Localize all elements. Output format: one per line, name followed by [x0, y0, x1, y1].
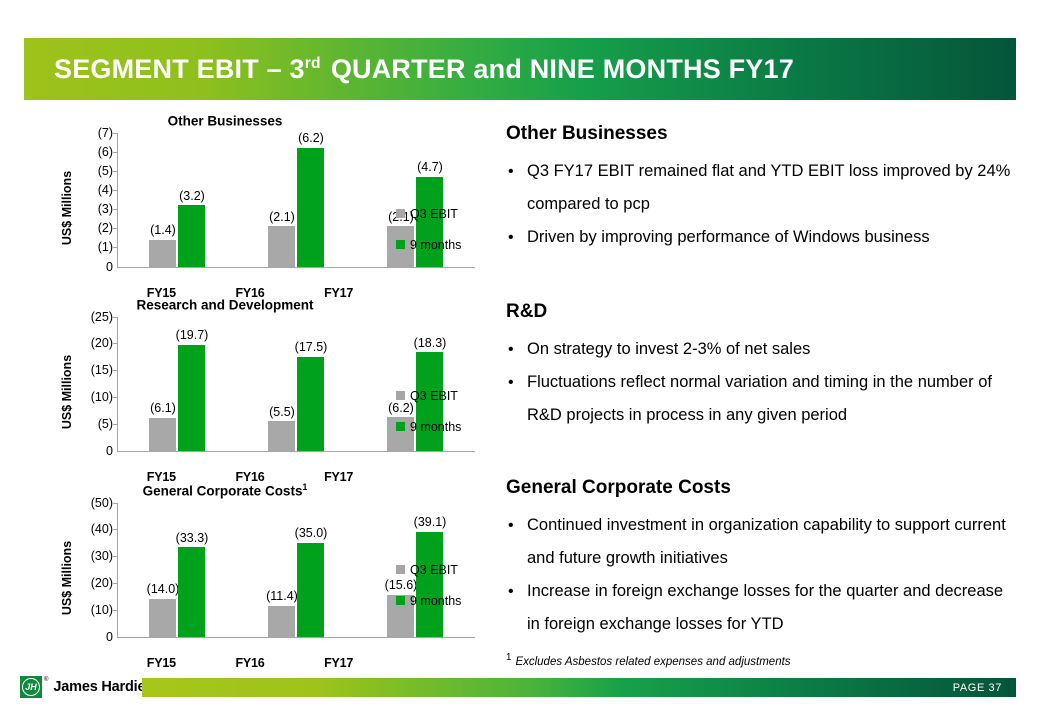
- bar-group: (11.4)(35.0): [238, 503, 356, 637]
- y-tick-mark: [113, 209, 118, 210]
- y-axis-title: US$ Millions: [55, 503, 75, 653]
- bar-value-label: (2.1): [269, 211, 295, 224]
- list-item: Continued investment in organization cap…: [506, 509, 1016, 575]
- footnote: 1Excludes Asbestos related expenses and …: [506, 652, 791, 668]
- commentary-section-general-corporate-costs: General Corporate Costs Continued invest…: [506, 478, 1016, 641]
- bar-value-label: (1.4): [150, 224, 176, 237]
- title-ordinal-suffix: rd: [305, 55, 321, 72]
- chart-title-superscript: 1: [302, 482, 307, 492]
- y-tick-mark: [113, 556, 118, 557]
- y-tick-mark: [113, 503, 118, 504]
- chart-title-text: Other Businesses: [168, 114, 283, 129]
- legend-label: 9 months: [410, 238, 461, 252]
- footnote-text: Excludes Asbestos related expenses and a…: [515, 656, 790, 668]
- y-tick-mark: [113, 133, 118, 134]
- bar-nine-months: (3.2): [178, 205, 205, 266]
- y-tick-label: (7): [98, 126, 113, 139]
- y-axis-title-text: US$ Millions: [60, 346, 74, 438]
- y-tick-mark: [113, 317, 118, 318]
- logo-monogram: JH: [22, 678, 40, 696]
- legend-label: 9 months: [410, 594, 461, 608]
- y-tick-mark: [113, 424, 118, 425]
- legend-swatch-icon: [396, 391, 405, 400]
- x-axis-category-label: FY15: [117, 656, 205, 670]
- chart-legend: Q3 EBIT 9 months: [396, 207, 488, 269]
- legend-swatch-icon: [396, 240, 405, 249]
- bar-nine-months: (33.3): [178, 547, 205, 636]
- chart-plot-area: US$ Millions (50)(40)(30)(20)(10)0 (14.0…: [55, 503, 475, 653]
- bar-q3-ebit: (6.1): [149, 418, 176, 451]
- chart-title: General Corporate Costs1: [55, 482, 475, 499]
- y-tick-label: (4): [98, 184, 113, 197]
- bar-q3-ebit: (11.4): [268, 606, 295, 637]
- chart-legend: Q3 EBIT 9 months: [396, 563, 488, 625]
- legend-swatch-icon: [396, 422, 405, 431]
- y-tick-label: (10): [91, 603, 113, 616]
- chart-other-businesses: Other Businesses US$ Millions (7)(6)(5)(…: [55, 112, 475, 300]
- legend-item-q3: Q3 EBIT: [396, 563, 488, 577]
- section-heading: General Corporate Costs: [506, 478, 1016, 499]
- y-tick-mark: [113, 583, 118, 584]
- x-axis-category-label: FY17: [295, 656, 383, 670]
- bar-group: (1.4)(3.2): [119, 133, 237, 267]
- y-tick-mark: [113, 529, 118, 530]
- y-tick-mark: [113, 370, 118, 371]
- legend-label: Q3 EBIT: [410, 563, 458, 577]
- y-tick-mark: [113, 171, 118, 172]
- slide-title-bar: SEGMENT EBIT – 3rdQUARTER and NINE MONTH…: [24, 38, 1016, 100]
- category-labels: FY15FY16FY17: [117, 656, 383, 670]
- legend-label: Q3 EBIT: [410, 389, 458, 403]
- legend-item-nine-months: 9 months: [396, 594, 488, 608]
- y-tick-label: (50): [91, 496, 113, 509]
- y-tick-label: (6): [98, 145, 113, 158]
- y-tick-label: (3): [98, 203, 113, 216]
- bar-value-label: (6.2): [298, 132, 324, 145]
- y-tick-label: 0: [106, 630, 113, 643]
- title-main: SEGMENT EBIT – 3: [54, 54, 305, 84]
- legend-swatch-icon: [396, 209, 405, 218]
- y-tick-label: (5): [98, 417, 113, 430]
- y-tick-label: (2): [98, 222, 113, 235]
- y-tick-label: (30): [91, 550, 113, 563]
- bar-value-label: (18.3): [414, 337, 447, 350]
- chart-title-text: General Corporate Costs: [143, 484, 303, 499]
- legend-spacer: [383, 656, 475, 670]
- bar-nine-months: (6.2): [297, 148, 324, 267]
- brand-name: James Hardie: [53, 679, 145, 695]
- y-tick-mark: [113, 610, 118, 611]
- y-axis-ticks: (50)(40)(30)(20)(10)0: [75, 503, 117, 637]
- bar-value-label: (4.7): [417, 161, 443, 174]
- bar-value-label: (35.0): [295, 527, 328, 540]
- chart-title: Research and Development: [55, 296, 475, 313]
- footer-gradient-bar: PAGE 37: [142, 678, 1016, 697]
- bullet-list: Continued investment in organization cap…: [506, 509, 1016, 641]
- bar-q3-ebit: (2.1): [268, 226, 295, 266]
- chart-legend: Q3 EBIT 9 months: [396, 389, 488, 451]
- list-item: Driven by improving performance of Windo…: [506, 221, 1016, 254]
- y-tick-label: 0: [106, 260, 113, 273]
- y-tick-mark: [113, 228, 118, 229]
- bar-group: (14.0)(33.3): [119, 503, 237, 637]
- legend-item-nine-months: 9 months: [396, 420, 488, 434]
- list-item: Fluctuations reflect normal variation an…: [506, 366, 1016, 432]
- bar-q3-ebit: (5.5): [268, 421, 295, 450]
- y-tick-label: (5): [98, 165, 113, 178]
- commentary-column: Other Businesses Q3 FY17 EBIT remained f…: [506, 124, 1016, 647]
- y-tick-label: (40): [91, 523, 113, 536]
- james-hardie-logo-icon: JH: [20, 676, 42, 698]
- chart-plot-area: US$ Millions (25)(20)(15)(10)(5)0 (6.1)(…: [55, 317, 475, 467]
- bar-nine-months: (17.5): [297, 357, 324, 451]
- y-tick-mark: [113, 152, 118, 153]
- y-tick-mark: [113, 190, 118, 191]
- y-tick-label: (20): [91, 337, 113, 350]
- y-tick-mark: [113, 247, 118, 248]
- page-number: PAGE 37: [953, 682, 1002, 694]
- bar-group: (2.1)(6.2): [238, 133, 356, 267]
- legend-swatch-icon: [396, 565, 405, 574]
- list-item: On strategy to invest 2-3% of net sales: [506, 333, 1016, 366]
- bullet-list: On strategy to invest 2-3% of net sales …: [506, 333, 1016, 432]
- list-item: Increase in foreign exchange losses for …: [506, 575, 1016, 641]
- y-axis-title-text: US$ Millions: [60, 532, 74, 624]
- legend-swatch-icon: [396, 596, 405, 605]
- bar-value-label: (39.1): [414, 516, 447, 529]
- legend-item-nine-months: 9 months: [396, 238, 488, 252]
- chart-general-corporate-costs: General Corporate Costs1 US$ Millions (5…: [55, 482, 475, 670]
- y-axis-title: US$ Millions: [55, 317, 75, 467]
- chart-plot-area: US$ Millions (7)(6)(5)(4)(3)(2)(1)0 (1.4…: [55, 133, 475, 283]
- y-axis-title: US$ Millions: [55, 133, 75, 283]
- bar-value-label: (5.5): [269, 406, 295, 419]
- y-tick-label: 0: [106, 444, 113, 457]
- commentary-section-other-businesses: Other Businesses Q3 FY17 EBIT remained f…: [506, 124, 1016, 254]
- chart-research-and-development: Research and Development US$ Millions (2…: [55, 296, 475, 484]
- legend-item-q3: Q3 EBIT: [396, 389, 488, 403]
- section-heading: R&D: [506, 302, 1016, 323]
- registered-trademark-icon: ®: [44, 677, 48, 683]
- bar-nine-months: (35.0): [297, 543, 324, 637]
- bullet-list: Q3 FY17 EBIT remained flat and YTD EBIT …: [506, 155, 1016, 254]
- x-axis-category-label: FY16: [206, 656, 294, 670]
- y-tick-label: (1): [98, 241, 113, 254]
- y-tick-mark: [113, 343, 118, 344]
- brand-logo: JH ® James Hardie: [20, 676, 145, 698]
- footnote-marker: 1: [506, 652, 511, 663]
- legend-label: 9 months: [410, 420, 461, 434]
- bar-value-label: (14.0): [147, 583, 180, 596]
- list-item: Q3 FY17 EBIT remained flat and YTD EBIT …: [506, 155, 1016, 221]
- bar-group: (6.1)(19.7): [119, 317, 237, 451]
- bar-value-label: (17.5): [295, 341, 328, 354]
- title-rest: QUARTER and NINE MONTHS FY17: [331, 54, 794, 84]
- bar-group: (5.5)(17.5): [238, 317, 356, 451]
- bar-value-label: (19.7): [176, 329, 209, 342]
- y-tick-label: (15): [91, 364, 113, 377]
- bar-q3-ebit: (14.0): [149, 599, 176, 637]
- chart-title: Other Businesses: [55, 112, 475, 129]
- x-axis-categories: FY15FY16FY17: [117, 656, 475, 670]
- bar-nine-months: (19.7): [178, 345, 205, 451]
- bar-value-label: (11.4): [266, 590, 298, 603]
- y-tick-label: (20): [91, 577, 113, 590]
- y-tick-mark: [113, 397, 118, 398]
- y-tick-label: (10): [91, 391, 113, 404]
- commentary-section-rd: R&D On strategy to invest 2-3% of net sa…: [506, 302, 1016, 432]
- y-axis-ticks: (7)(6)(5)(4)(3)(2)(1)0: [75, 133, 117, 267]
- bar-q3-ebit: (1.4): [149, 240, 176, 267]
- section-heading: Other Businesses: [506, 124, 1016, 145]
- legend-label: Q3 EBIT: [410, 207, 458, 221]
- bar-value-label: (3.2): [179, 190, 205, 203]
- page-title: SEGMENT EBIT – 3rdQUARTER and NINE MONTH…: [24, 54, 794, 85]
- y-tick-label: (25): [91, 310, 113, 323]
- legend-item-q3: Q3 EBIT: [396, 207, 488, 221]
- bar-value-label: (33.3): [176, 532, 209, 545]
- y-axis-title-text: US$ Millions: [60, 162, 74, 254]
- bar-value-label: (6.1): [150, 402, 176, 415]
- y-axis-ticks: (25)(20)(15)(10)(5)0: [75, 317, 117, 451]
- chart-title-text: Research and Development: [136, 298, 313, 313]
